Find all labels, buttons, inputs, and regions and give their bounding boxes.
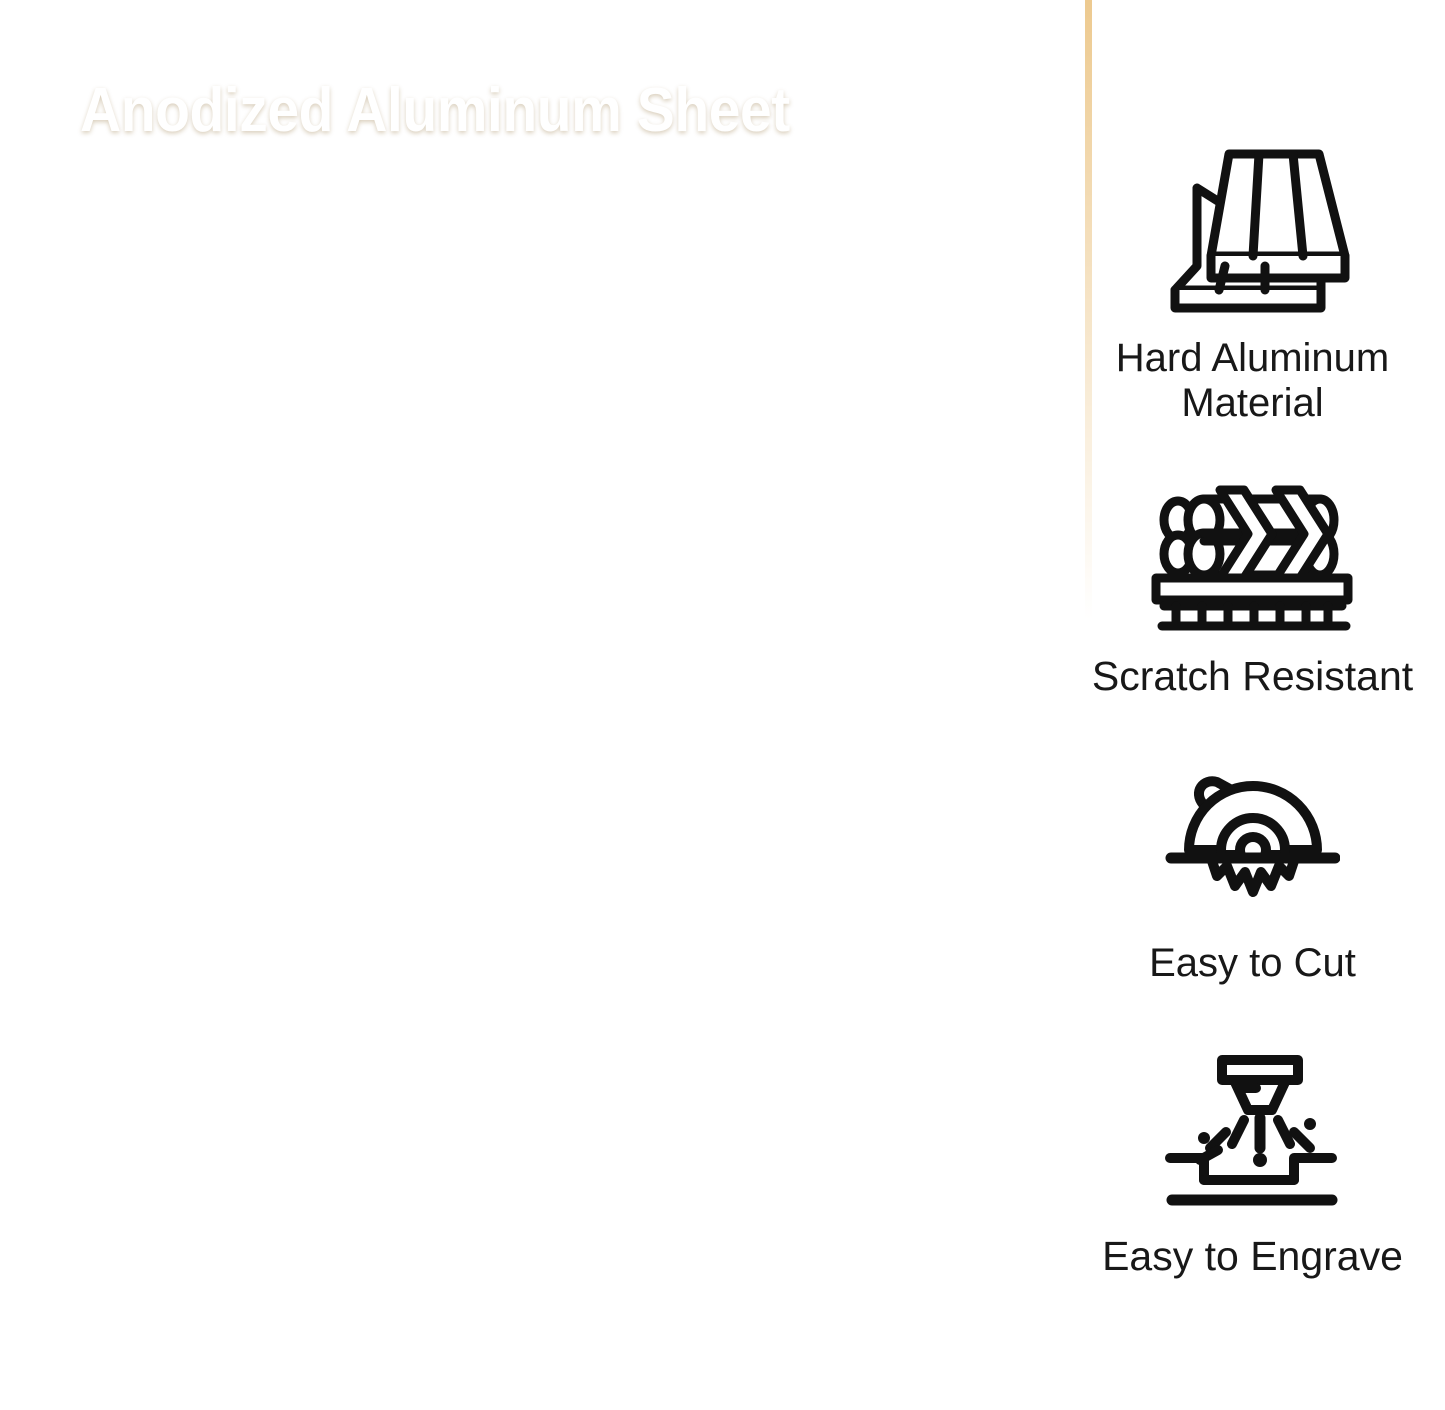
- feature-label: Hard Aluminum Material: [1116, 336, 1389, 426]
- aluminum-sheet-1: [0, 760, 332, 1410]
- feature-item-easy-to-cut: Easy to Cut: [1060, 770, 1445, 986]
- aluminum-sheet-4: [0, 1405, 332, 1410]
- circular-saw-icon: [1165, 770, 1340, 925]
- stacked-aluminum-plates-icon: [1153, 140, 1353, 320]
- feature-label: Scratch Resistant: [1092, 654, 1413, 700]
- laser-engraver-icon: [1160, 1048, 1345, 1218]
- feature-label: Easy to Engrave: [1102, 1234, 1403, 1280]
- feature-item-hard-aluminum-material: Hard Aluminum Material: [1060, 140, 1445, 426]
- metal-profiles-rack-icon: [1148, 478, 1358, 638]
- aluminum-sheet-2: [0, 975, 332, 1410]
- feature-label: Easy to Cut: [1149, 941, 1356, 986]
- feature-item-easy-to-engrave: Easy to Engrave: [1060, 1048, 1445, 1280]
- page-title: Anodized Aluminum Sheet: [80, 78, 963, 143]
- product-infographic: Anodized Aluminum Sheet: [0, 0, 1445, 1410]
- feature-list: Hard Aluminum Material: [1060, 0, 1445, 1410]
- feature-item-scratch-resistant: Scratch Resistant: [1060, 478, 1445, 700]
- aluminum-sheet-3: [0, 1190, 332, 1410]
